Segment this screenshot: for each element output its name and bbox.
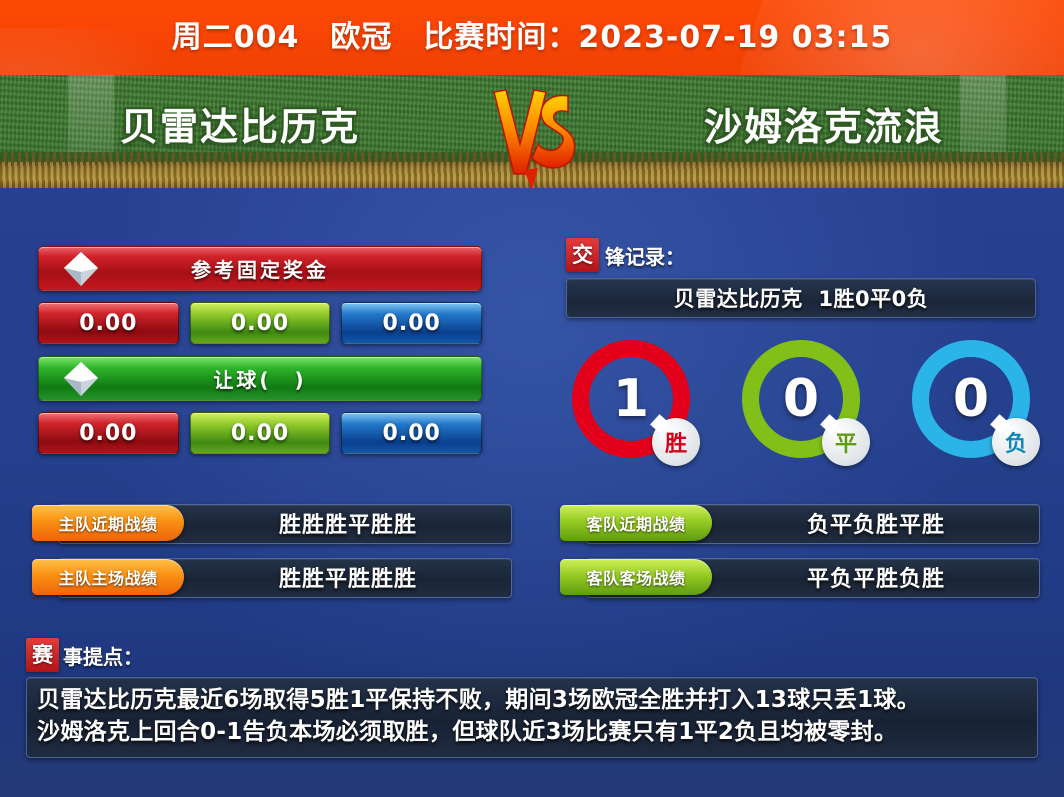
- home-form-column: 主队近期战绩 胜胜胜平胜胜 主队主场战绩 胜胜平胜胜胜: [32, 504, 512, 612]
- home-team-name: 贝雷达比历克: [0, 96, 480, 151]
- fixed-odds-header: 参考固定奖金: [38, 246, 482, 291]
- home-home-form-label: 主队主场战绩: [32, 559, 184, 595]
- h2h-ring-lose: 0 负: [912, 340, 1030, 458]
- home-recent-form-row: 主队近期战绩 胜胜胜平胜胜: [32, 504, 512, 542]
- away-recent-form-label: 客队近期战绩: [560, 505, 712, 541]
- away-away-form-label: 客队客场战绩: [560, 559, 712, 595]
- handicap-odd-win[interactable]: 0.00: [38, 412, 179, 454]
- ring-draw-badge: 平: [822, 418, 870, 466]
- diamond-icon: [61, 249, 101, 289]
- notes-heading: 赛 事提点：: [26, 640, 1038, 670]
- ring-win-badge: 胜: [652, 418, 700, 466]
- away-team-name: 沙姆洛克流浪: [584, 96, 1064, 151]
- notes-line-1: 贝雷达比历克最近6场取得5胜1平保持不败，期间3场欧冠全胜并打入13球只丢1球。: [37, 684, 1027, 716]
- away-away-form-row: 客队客场战绩 平负平胜负胜: [560, 558, 1040, 596]
- handicap-title: 让球( ): [213, 364, 306, 393]
- fixed-odds-row: 0.00 0.00 0.00: [38, 302, 482, 344]
- match-preview-page: 周二004 欧冠 比赛时间：2023-07-19 03:15 贝雷达比历克 沙姆…: [0, 0, 1064, 797]
- away-recent-form-row: 客队近期战绩 负平负胜平胜: [560, 504, 1040, 542]
- home-recent-form-value: 胜胜胜平胜胜: [184, 504, 512, 542]
- home-home-form-value: 胜胜平胜胜胜: [184, 558, 512, 596]
- ring-lose-badge: 负: [992, 418, 1040, 466]
- away-form-column: 客队近期战绩 负平负胜平胜 客队客场战绩 平负平胜负胜: [560, 504, 1040, 612]
- h2h-ring-win: 1 胜: [572, 340, 690, 458]
- fixed-odd-draw[interactable]: 0.00: [190, 302, 331, 344]
- h2h-rings: 1 胜 0 平 0 负: [566, 340, 1036, 458]
- notes-tag-text: 事提点：: [63, 641, 143, 670]
- vs-icon: [472, 82, 592, 192]
- odds-panel: 参考固定奖金 0.00 0.00 0.00 让球( ) 0.00 0.00 0.…: [38, 246, 482, 454]
- diamond-icon: [61, 359, 101, 399]
- notes-line-2: 沙姆洛克上回合0-1告负本场必须取胜，但球队近3场比赛只有1平2负且均被零封。: [37, 716, 1027, 748]
- handicap-header: 让球( ): [38, 356, 482, 401]
- h2h-tag-text: 锋记录：: [605, 241, 685, 270]
- fixed-odds-title: 参考固定奖金: [191, 254, 329, 283]
- header-bar: 周二004 欧冠 比赛时间：2023-07-19 03:15: [0, 0, 1064, 75]
- h2h-summary: 贝雷达比历克 1胜0平0负: [566, 278, 1036, 318]
- page-title: 周二004 欧冠 比赛时间：2023-07-19 03:15: [0, 0, 1064, 75]
- handicap-odd-lose[interactable]: 0.00: [341, 412, 482, 454]
- fixed-odd-lose[interactable]: 0.00: [341, 302, 482, 344]
- handicap-odd-draw[interactable]: 0.00: [190, 412, 331, 454]
- h2h-ring-draw: 0 平: [742, 340, 860, 458]
- handicap-odds-row: 0.00 0.00 0.00: [38, 412, 482, 454]
- h2h-tag-mark: 交: [566, 238, 599, 272]
- h2h-heading: 交 锋记录：: [566, 240, 1036, 270]
- away-away-form-value: 平负平胜负胜: [712, 558, 1040, 596]
- away-recent-form-value: 负平负胜平胜: [712, 504, 1040, 542]
- fixed-odd-win[interactable]: 0.00: [38, 302, 179, 344]
- h2h-panel: 交 锋记录： 贝雷达比历克 1胜0平0负 1 胜 0 平 0: [566, 240, 1036, 458]
- notes-tag-mark: 赛: [26, 638, 59, 672]
- notes-body: 贝雷达比历克最近6场取得5胜1平保持不败，期间3场欧冠全胜并打入13球只丢1球。…: [26, 677, 1038, 758]
- match-notes: 赛 事提点： 贝雷达比历克最近6场取得5胜1平保持不败，期间3场欧冠全胜并打入1…: [26, 640, 1038, 758]
- home-home-form-row: 主队主场战绩 胜胜平胜胜胜: [32, 558, 512, 596]
- home-recent-form-label: 主队近期战绩: [32, 505, 184, 541]
